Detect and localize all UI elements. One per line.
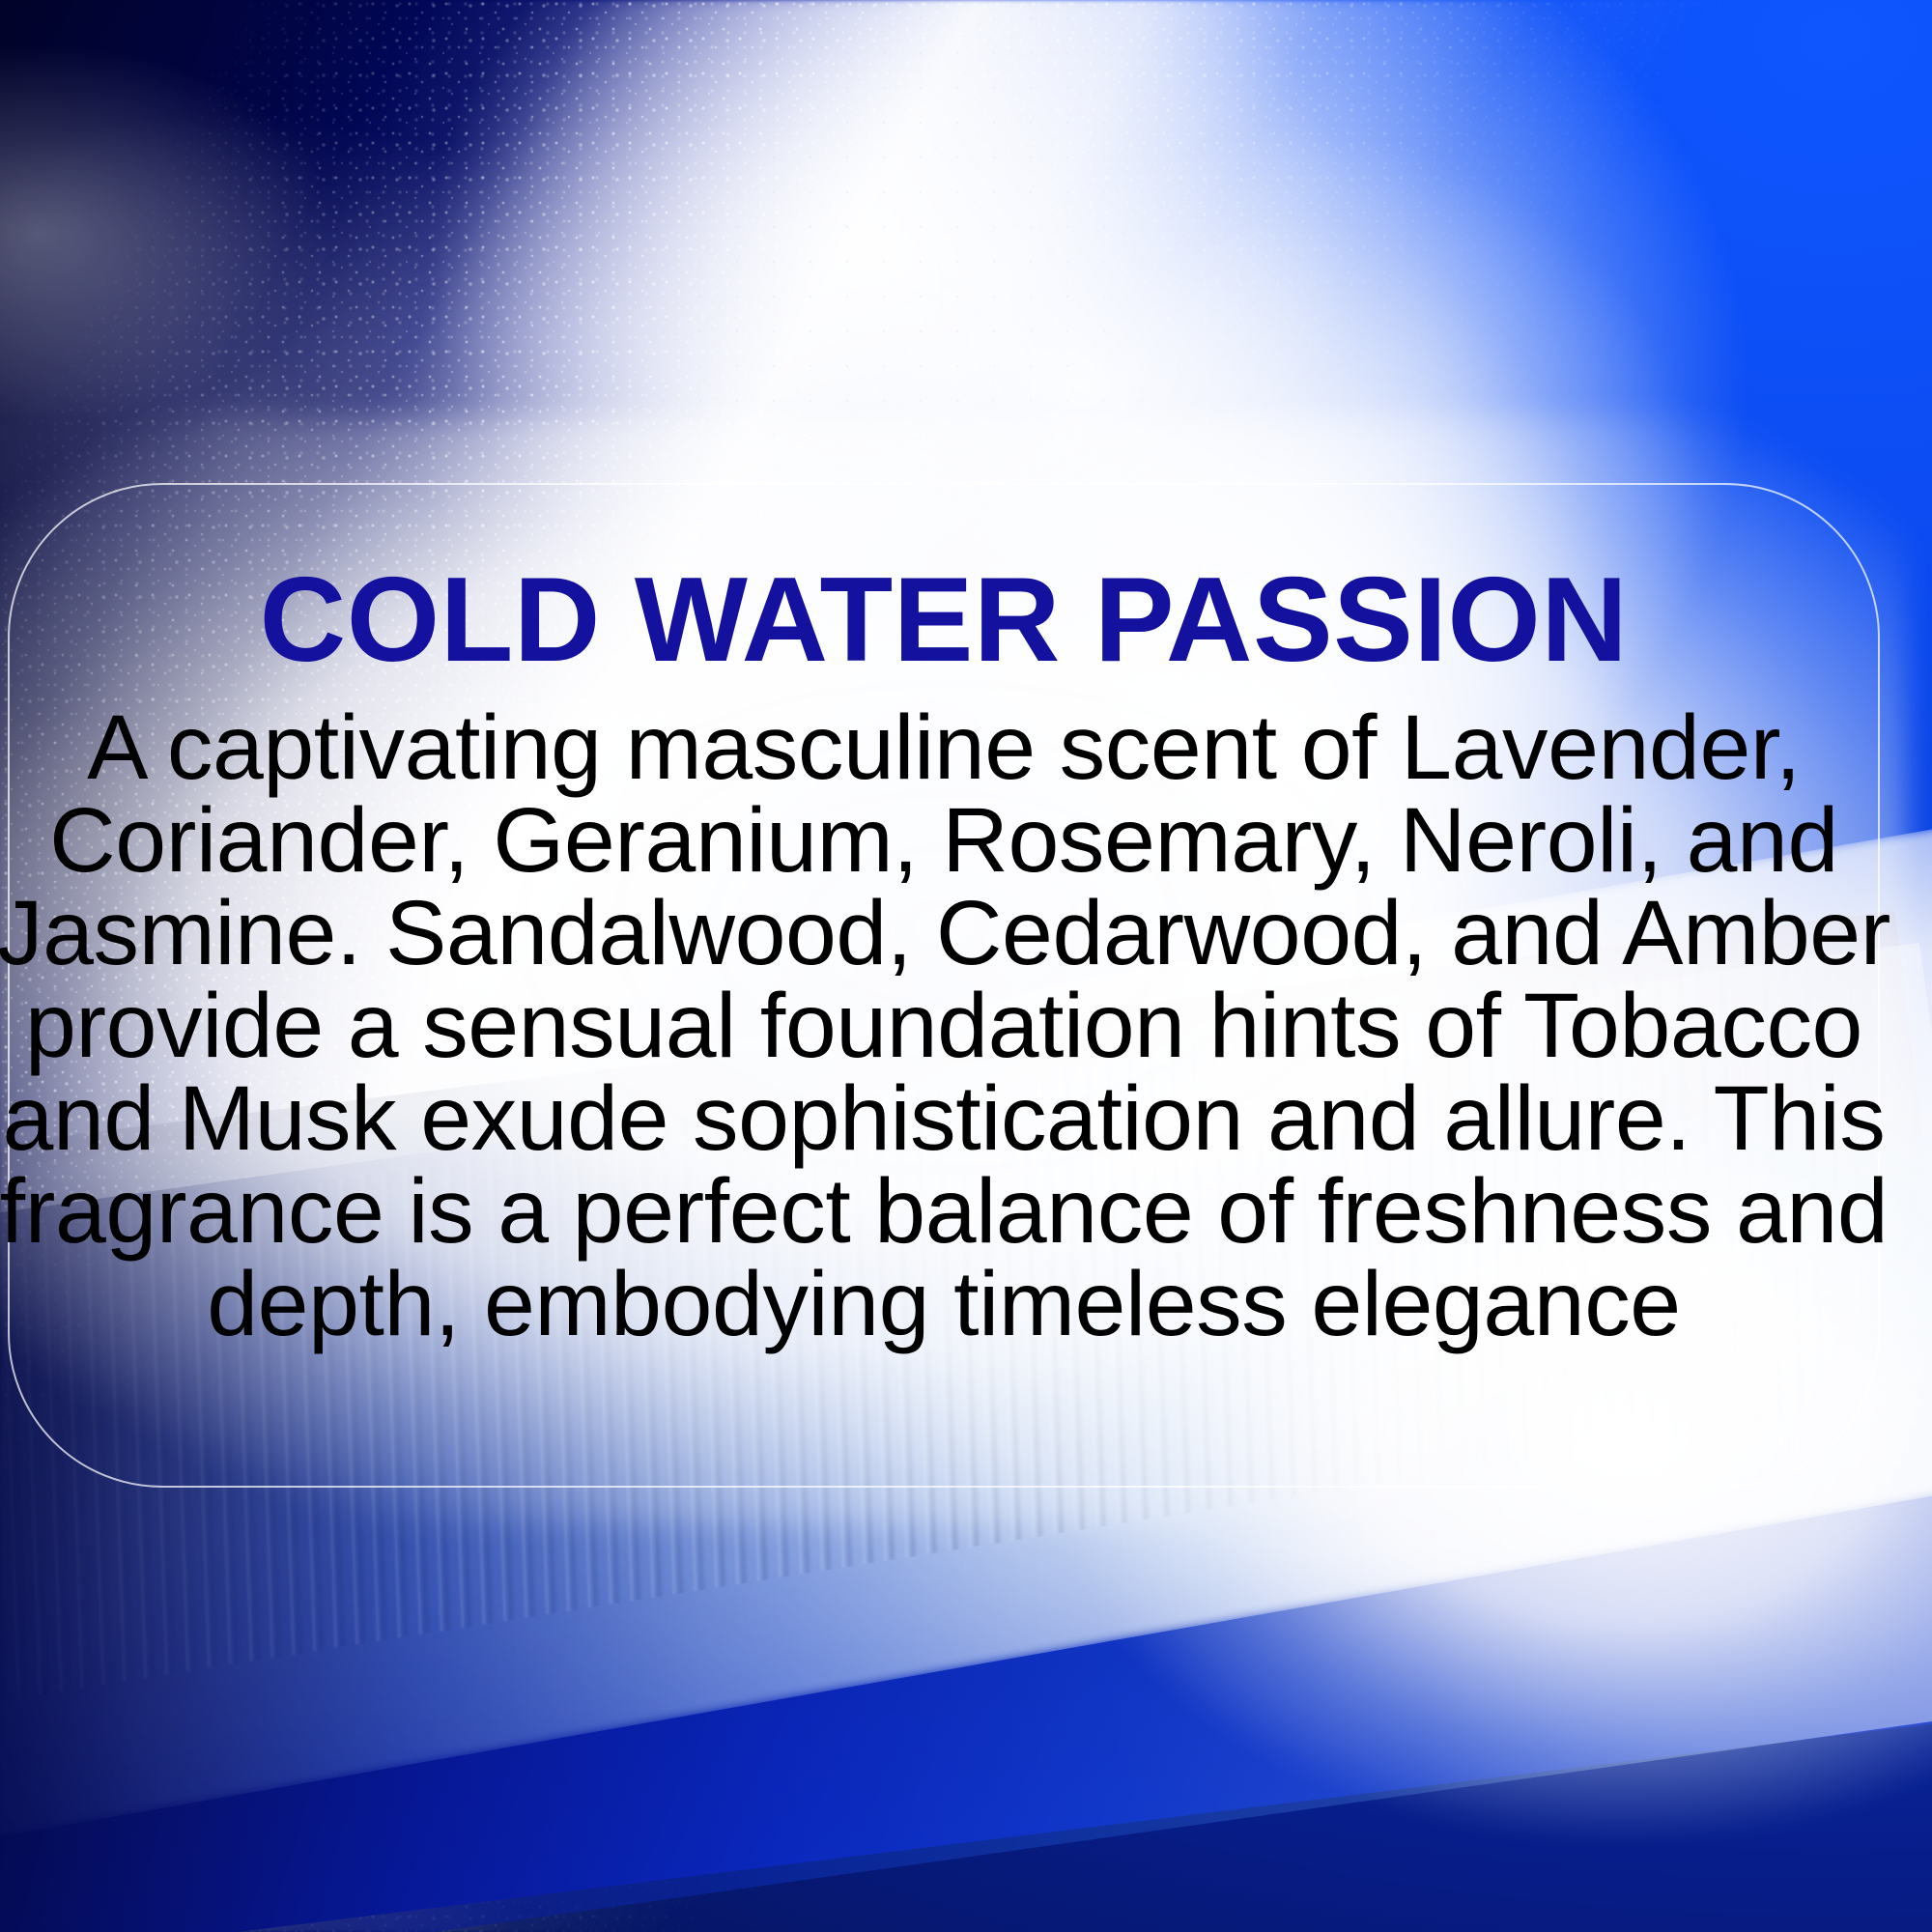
- poster-canvas: COLD WATER PASSION A captivating masculi…: [0, 0, 1932, 1932]
- card-content: COLD WATER PASSION A captivating masculi…: [10, 485, 1878, 1486]
- page-title: COLD WATER PASSION: [260, 560, 1629, 680]
- product-description-card: COLD WATER PASSION A captivating masculi…: [8, 483, 1880, 1488]
- fragrance-description: A captivating masculine scent of Lavende…: [0, 701, 1910, 1350]
